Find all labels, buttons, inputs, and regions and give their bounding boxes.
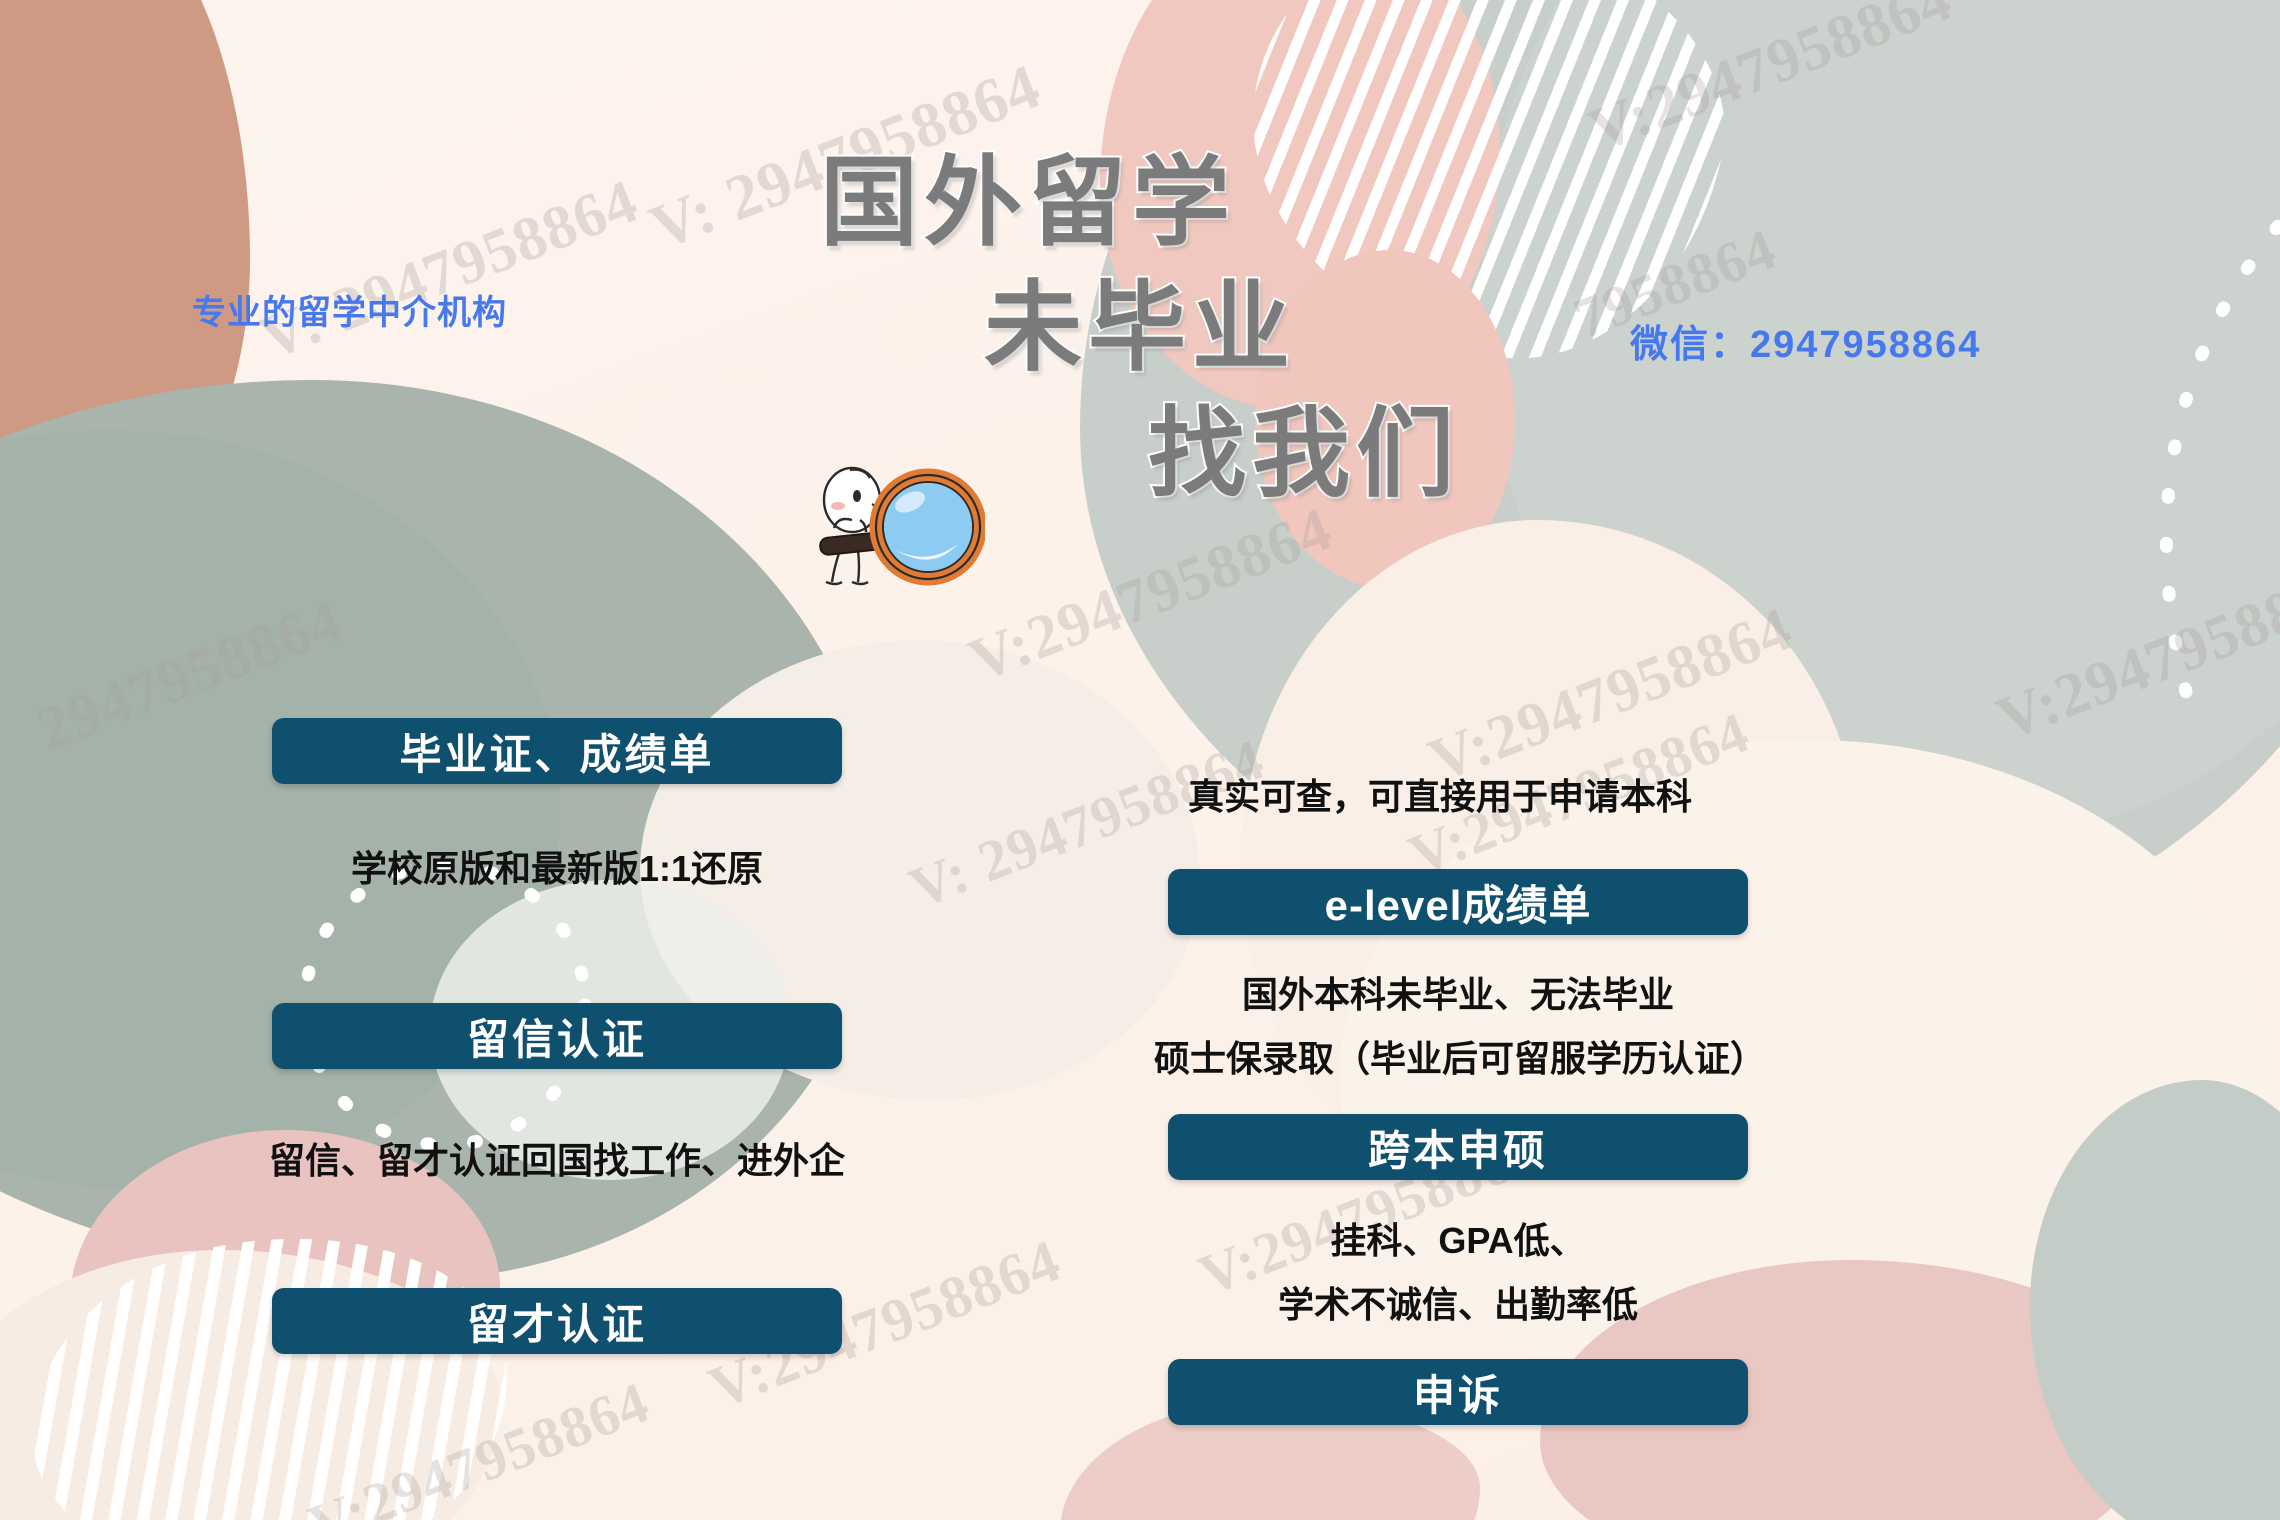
hero-line-2: 未毕业 <box>820 265 1460 390</box>
tagline-text: 专业的留学中介机构 <box>192 285 507 334</box>
caption-verifiable-intro: 真实可查，可直接用于申请本科 <box>1090 768 1790 820</box>
badge-e-level-transcript[interactable]: e-level成绩单 <box>1168 869 1748 935</box>
badge-appeal[interactable]: 申诉 <box>1168 1359 1748 1425</box>
wechat-contact-label: 微信：2947958864 <box>1630 313 1981 368</box>
poster-canvas: V: 2947958864 V:2947958864 V: 2947958864… <box>0 0 2280 1520</box>
caption-cross-major-line-2: 学术不诚信、出勤率低 <box>1108 1276 1808 1328</box>
caption-e-level-line-2: 硕士保录取（毕业后可留服学历认证） <box>1060 1030 1860 1082</box>
caption-diploma-transcript: 学校原版和最新版1:1还原 <box>182 840 932 892</box>
hero-line-1: 国外留学 <box>820 140 1460 265</box>
badge-liuxin-certification[interactable]: 留信认证 <box>272 1003 842 1069</box>
badge-cross-major-master[interactable]: 跨本申硕 <box>1168 1114 1748 1180</box>
badge-diploma-transcript[interactable]: 毕业证、成绩单 <box>272 718 842 784</box>
badge-liucai-certification[interactable]: 留才认证 <box>272 1288 842 1354</box>
poster-content: 专业的留学中介机构 微信：2947958864 国外留学 未毕业 找我们 <box>0 0 2280 1520</box>
magnifying-glass-character-icon <box>800 458 985 603</box>
caption-e-level-line-1: 国外本科未毕业、无法毕业 <box>1108 966 1808 1018</box>
caption-liuxin-certification: 留信、留才认证回国找工作、进外企 <box>142 1132 972 1184</box>
caption-cross-major-line-1: 挂科、GPA低、 <box>1108 1212 1808 1264</box>
